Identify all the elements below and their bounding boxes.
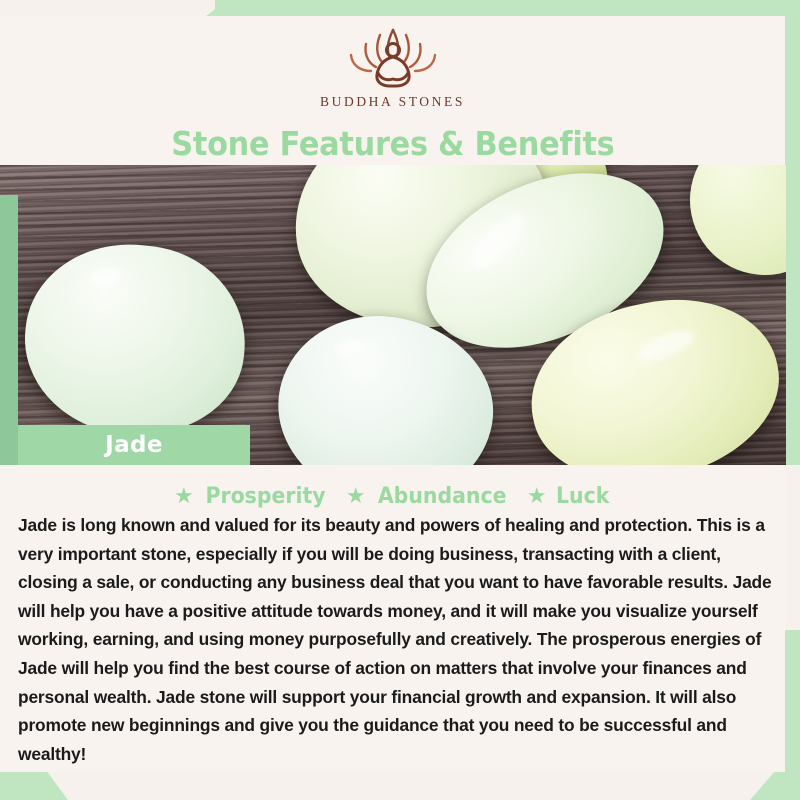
- benefit-label: Abundance: [377, 484, 506, 509]
- brand-name: BUDDHA STONES: [320, 94, 465, 110]
- accent-right-edge-bar: [785, 0, 800, 180]
- stone-description: Jade is long known and valued for its be…: [18, 511, 784, 768]
- stone-name-label: Jade: [105, 432, 163, 458]
- benefits-row: ★ Prosperity ★ Abundance ★ Luck: [0, 480, 785, 512]
- benefit-item: ★ Luck: [527, 484, 611, 509]
- stone-highlight: [334, 337, 366, 356]
- benefit-label: Prosperity: [205, 484, 325, 509]
- benefit-item: ★ Abundance: [346, 484, 511, 509]
- poster-root: BUDDHA STONES Stone Features & Benefits …: [0, 0, 800, 800]
- stone-highlight: [634, 324, 698, 367]
- title-banner: Stone Features & Benefits: [0, 121, 785, 166]
- accent-left-photo-bar: [0, 195, 18, 465]
- accent-right-photo-bar: [786, 165, 800, 465]
- star-icon: ★: [174, 485, 194, 507]
- star-icon: ★: [527, 485, 547, 507]
- accent-bottom-right-diagonal: [750, 770, 776, 800]
- stone-highlight: [464, 207, 531, 275]
- benefit-item: ★ Prosperity: [174, 484, 330, 509]
- brand-header: BUDDHA STONES: [0, 16, 785, 120]
- page-title: Stone Features & Benefits: [171, 124, 614, 163]
- benefit-label: Luck: [556, 484, 609, 509]
- stone-name-badge: Jade: [18, 425, 250, 465]
- stone-photo: [0, 165, 800, 465]
- lotus-meditation-icon: [318, 24, 468, 92]
- accent-top-right-bar: [215, 0, 800, 16]
- star-icon: ★: [346, 485, 366, 507]
- stone-highlight: [87, 265, 124, 288]
